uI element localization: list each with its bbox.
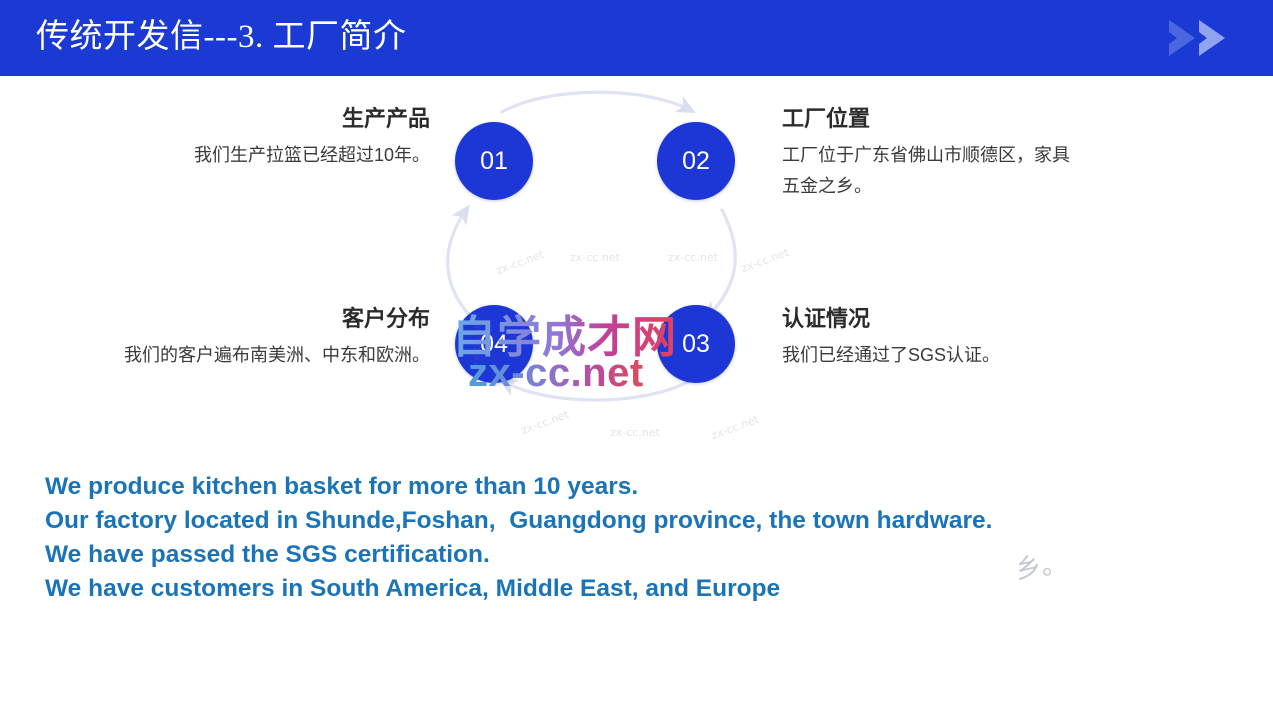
english-summary: We produce kitchen basket for more than …	[45, 470, 1145, 606]
quadrant-body: 我们的客户遍布南美洲、中东和欧洲。	[60, 340, 430, 371]
cycle-diagram: 01 02 03 04	[398, 88, 798, 418]
quadrant-customers: 客户分布 我们的客户遍布南美洲、中东和欧洲。	[60, 304, 430, 371]
cycle-node-01[interactable]: 01	[455, 122, 533, 200]
cycle-node-label: 04	[480, 330, 508, 359]
quadrant-body: 工厂位于广东省佛山市顺德区，家具五金之乡。	[782, 140, 1082, 202]
english-line-3: We have passed the SGS certification.	[45, 538, 1145, 572]
quadrant-title: 工厂位置	[782, 104, 1082, 134]
double-chevron-right-icon	[1165, 14, 1241, 62]
cycle-node-03[interactable]: 03	[657, 305, 735, 383]
english-line-1: We produce kitchen basket for more than …	[45, 470, 1145, 504]
cycle-node-04[interactable]: 04	[455, 305, 533, 383]
quadrant-production: 生产产品 我们生产拉篮已经超过10年。	[60, 104, 430, 171]
slide-header: 传统开发信---3. 工厂简介	[0, 0, 1273, 76]
quadrant-title: 客户分布	[60, 304, 430, 334]
cycle-node-02[interactable]: 02	[657, 122, 735, 200]
quadrant-body: 我们已经通过了SGS认证。	[782, 340, 1102, 371]
cycle-node-label: 03	[682, 330, 710, 359]
quadrant-title: 认证情况	[782, 304, 1102, 334]
slide-body: 01 02 03 04 zx-cc.net zx-cc.net zx-cc.ne…	[0, 76, 1273, 707]
watermark-tile: zx-cc.net	[610, 426, 660, 439]
english-line-2: Our factory located in Shunde,Foshan, Gu…	[45, 504, 1145, 538]
quadrant-certification: 认证情况 我们已经通过了SGS认证。	[782, 304, 1102, 371]
page-title: 传统开发信---3. 工厂简介	[36, 14, 406, 60]
cycle-node-label: 01	[480, 147, 508, 176]
english-line-4: We have customers in South America, Midd…	[45, 572, 1145, 606]
cycle-arrows	[398, 88, 798, 418]
quadrant-title: 生产产品	[60, 104, 430, 134]
cycle-node-label: 02	[682, 147, 710, 176]
quadrant-body: 我们生产拉篮已经超过10年。	[60, 140, 430, 171]
quadrant-location: 工厂位置 工厂位于广东省佛山市顺德区，家具五金之乡。	[782, 104, 1082, 202]
